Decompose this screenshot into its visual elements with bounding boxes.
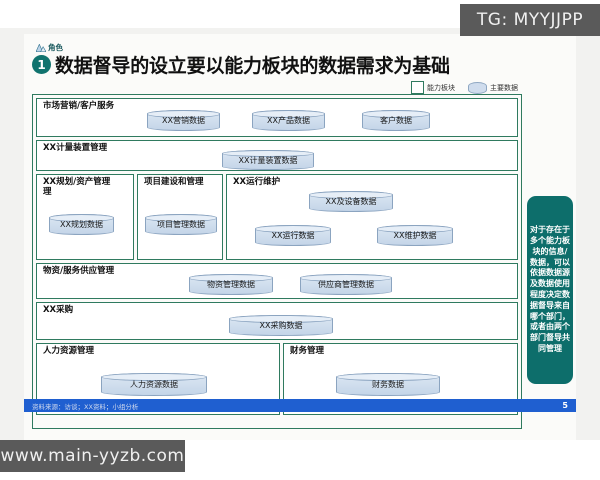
band-label: XX计量装置管理 [43, 144, 107, 154]
footer-page-number: 5 [562, 401, 568, 410]
slide-footer: 资料来源：访谈；XX资料；小组分析 5 [24, 399, 576, 412]
band-label: XX规划/资产管理理 [43, 178, 117, 198]
legend-label-capability-block: 能力板块 [427, 83, 455, 93]
data-store-cylinder[interactable]: XX维护数据 [377, 225, 453, 246]
data-store-cylinder[interactable]: 人力资源数据 [101, 373, 207, 396]
band-operation-maintenance[interactable]: XX运行维护 XX及设备数据 XX运行数据 XX维护数据 [226, 174, 518, 260]
band-metering-device-management[interactable]: XX计量装置管理 XX计量装置数据 [36, 140, 518, 171]
data-store-cylinder[interactable]: 物资管理数据 [189, 274, 273, 295]
data-store-cylinder[interactable]: XX营销数据 [147, 110, 220, 131]
band-label: 物资/服务供应管理 [43, 267, 114, 277]
data-store-cylinder[interactable]: XX运行数据 [255, 225, 331, 246]
band-label: 市场营销/客户服务 [43, 102, 114, 112]
title-number-badge: 1 [32, 55, 51, 74]
band-label: 人力资源管理 [43, 347, 94, 357]
callout-text: 对于存在于多个能力板块的信息/数据，可以依据数据源及数据使用程度决定数据督导来自… [530, 225, 570, 355]
legend: 能力板块 主要数据 [411, 81, 518, 94]
callout-note: 对于存在于多个能力板块的信息/数据，可以依据数据源及数据使用程度决定数据督导来自… [527, 196, 573, 384]
data-store-cylinder[interactable]: 供应商管理数据 [300, 274, 392, 295]
data-store-cylinder[interactable]: XX及设备数据 [309, 191, 393, 212]
watermark-bottom: www.main-yyzb.com [0, 440, 185, 472]
legend-label-main-data: 主要数据 [490, 83, 518, 93]
data-store-cylinder[interactable]: XX计量装置数据 [222, 150, 314, 170]
data-store-cylinder[interactable]: XX规划数据 [49, 214, 114, 235]
data-store-cylinder[interactable]: XX产品数据 [252, 110, 325, 131]
data-store-cylinder[interactable]: 项目管理数据 [145, 214, 217, 235]
page-title: 1 数据督导的设立要以能力板块的数据需求为基础 [32, 51, 450, 78]
slide-canvas: 角色 1 数据督导的设立要以能力板块的数据需求为基础 能力板块 主要数据 市场营… [0, 28, 600, 440]
data-store-cylinder[interactable]: XX采购数据 [229, 315, 333, 336]
capability-block-diagram: 市场营销/客户服务 XX营销数据 XX产品数据 客户数据 XX计量装置管理 XX… [32, 94, 522, 429]
band-project-construction-management[interactable]: 项目建设和管理 项目管理数据 [137, 174, 223, 260]
band-label: XX采购 [43, 306, 73, 316]
data-store-cylinder[interactable]: 财务数据 [336, 373, 440, 396]
band-row-planning-project-operation: XX规划/资产管理理 XX规划数据 项目建设和管理 项目管理数据 XX运行维护 … [36, 174, 518, 260]
data-store-cylinder[interactable]: 客户数据 [362, 110, 430, 131]
band-procurement[interactable]: XX采购 XX采购数据 [36, 302, 518, 340]
band-label: XX运行维护 [233, 178, 280, 188]
database-cylinder-icon [468, 82, 487, 94]
band-planning-asset-management[interactable]: XX规划/资产管理理 XX规划数据 [36, 174, 134, 260]
footer-source: 资料来源：访谈；XX资料；小组分析 [32, 401, 562, 411]
legend-item-capability-block: 能力板块 [411, 81, 455, 94]
title-text: 数据督导的设立要以能力板块的数据需求为基础 [55, 51, 450, 78]
capability-block-swatch-icon [411, 81, 424, 94]
band-material-service-supply-management[interactable]: 物资/服务供应管理 物资管理数据 供应商管理数据 [36, 263, 518, 299]
band-label: 财务管理 [290, 347, 324, 357]
band-marketing-customer-service[interactable]: 市场营销/客户服务 XX营销数据 XX产品数据 客户数据 [36, 98, 518, 137]
legend-item-main-data: 主要数据 [468, 82, 518, 94]
band-label: 项目建设和管理 [144, 178, 204, 188]
slide-content-area: 角色 1 数据督导的设立要以能力板块的数据需求为基础 能力板块 主要数据 市场营… [24, 34, 576, 440]
watermark-top: TG: MYYJJPP [460, 4, 600, 36]
